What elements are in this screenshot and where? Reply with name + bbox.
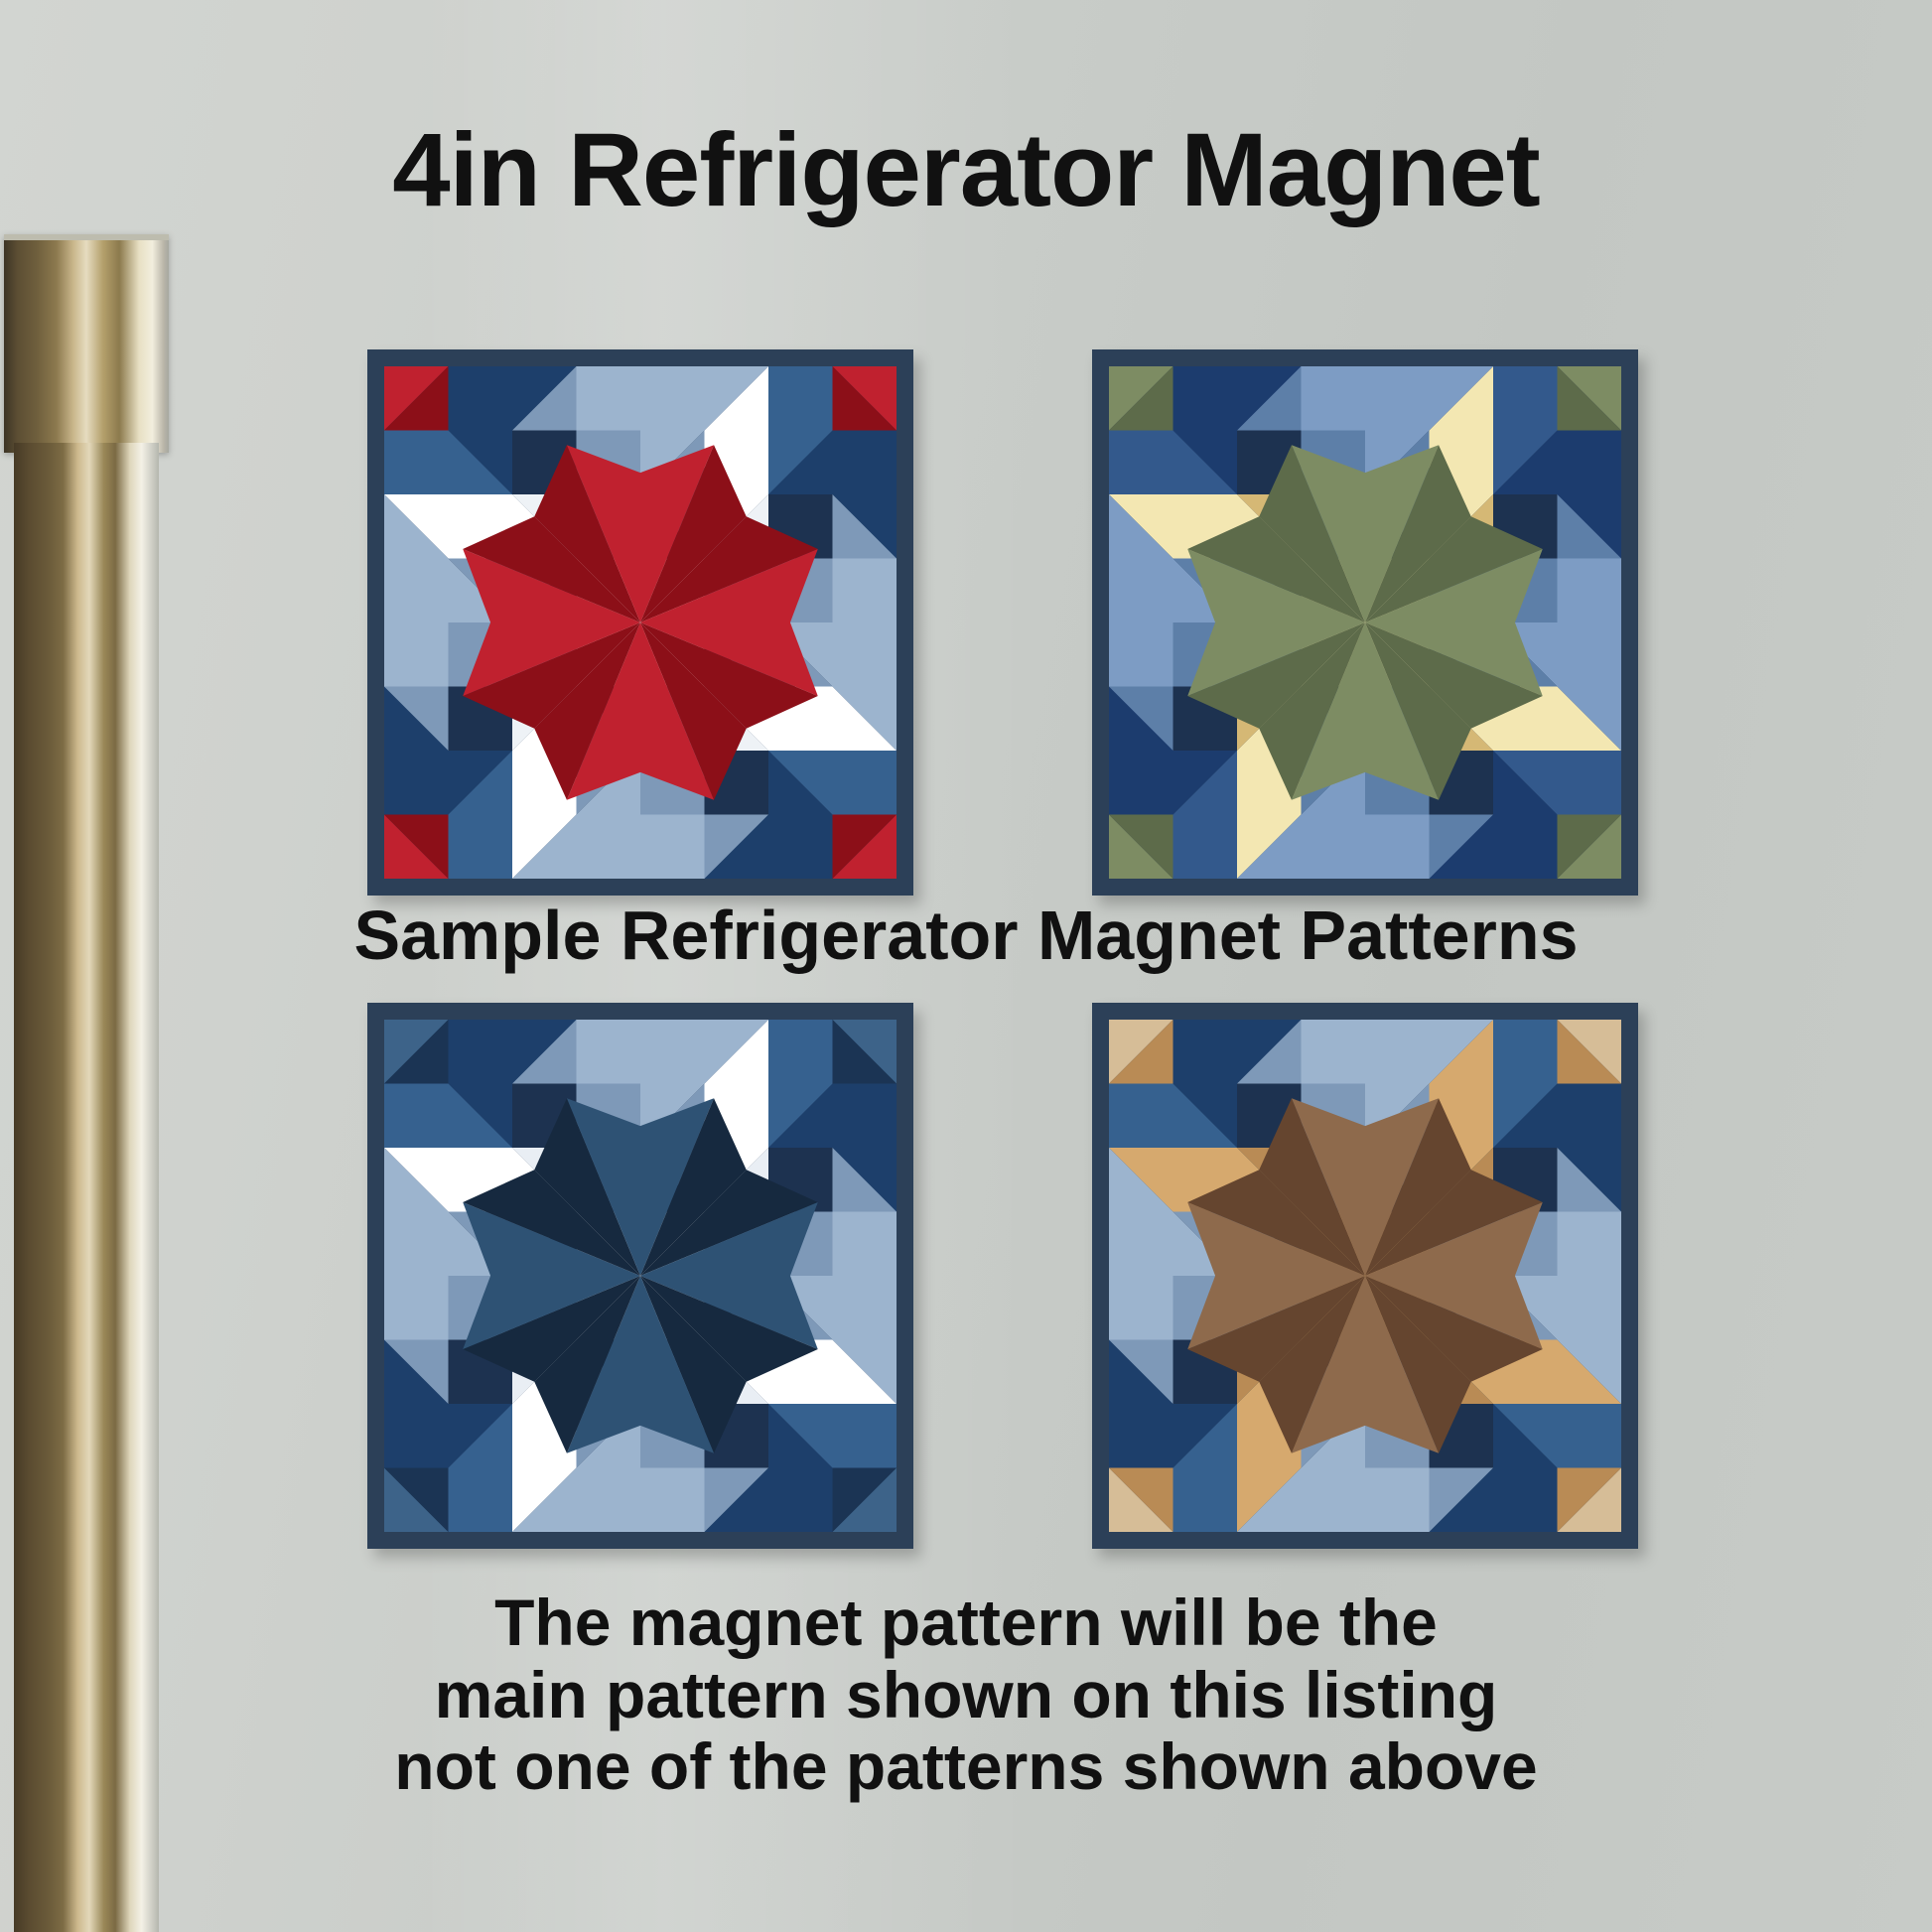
page-title: 4in Refrigerator Magnet (0, 111, 1932, 230)
disclaimer-line-3: not one of the patterns shown above (0, 1730, 1932, 1803)
quilt-block-3 (367, 1003, 913, 1549)
quilt-block-4 (1092, 1003, 1638, 1549)
bottom-disclaimer: The magnet pattern will be the main patt… (0, 1587, 1932, 1803)
disclaimer-line-2: main pattern shown on this listing (0, 1659, 1932, 1731)
handle-cap (4, 234, 169, 453)
quilt-block-1 (367, 349, 913, 896)
quilt-block-2 (1092, 349, 1638, 896)
disclaimer-line-1: The magnet pattern will be the (0, 1587, 1932, 1659)
sample-patterns-caption: Sample Refrigerator Magnet Patterns (0, 896, 1932, 975)
